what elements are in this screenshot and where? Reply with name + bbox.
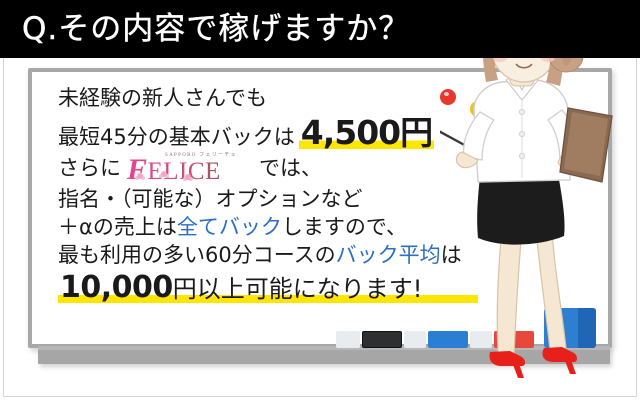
copy-line-7: 10,000円以上可能になります! [58, 273, 478, 303]
flower-icon-1 [137, 173, 143, 179]
felice-logo-wordmark: FELICE [127, 157, 221, 185]
flower-icon-2 [161, 171, 167, 177]
felice-logo-rest: ELICE [148, 158, 221, 185]
copy-line-5-prefix: ＋αの売上は [58, 215, 177, 239]
clipboard [560, 108, 612, 182]
copy-line-2: 最短45分の基本バックは 4,500円 [58, 116, 478, 149]
black-skirt [477, 174, 564, 245]
base-back-amount: 4,500円 [299, 116, 434, 149]
felice-logo-initial: F [127, 153, 148, 186]
promo-copy: 未経験の新人さんでも 最短45分の基本バックは 4,500円 さらに SAPPO… [58, 88, 478, 303]
copy-line-5-highlight: 全てバック [177, 215, 282, 239]
copy-line-6: 最も利用の多い60分コースのバック平均は [58, 245, 478, 266]
copy-line-7-suffix: 円以上可能になります! [173, 275, 423, 303]
header-bar: Q.その内容で稼げますか？ [0, 0, 640, 58]
copy-line-3: さらに SAPPORO フェリーチェ FELICE では、 [58, 153, 478, 183]
copy-line-3-suffix: では、 [259, 158, 322, 179]
flower-icon-3 [185, 174, 191, 180]
red-heel-right [542, 347, 577, 374]
copy-line-2-text: 最短45分の基本バックは [58, 127, 295, 148]
average-back-amount: 10,000 [60, 270, 173, 305]
poster-canvas: Q.その内容で稼げますか？ 未経験の新人さんでも 最短45分の基本バックは 4,… [0, 0, 640, 400]
copy-line-6-highlight: バック平均 [336, 243, 441, 267]
page-title: Q.その内容で稼げますか？ [22, 6, 410, 52]
marker-cap-1 [336, 331, 360, 348]
business-woman-presenter [440, 0, 640, 400]
copy-line-5: ＋αの売上は全てバックしますので、 [58, 217, 478, 238]
felice-logo: SAPPORO フェリーチェ FELICE [127, 155, 253, 185]
copy-line-6-prefix: 最も利用の多い60分コースの [58, 243, 336, 267]
marker-cap-2 [404, 331, 426, 348]
copy-line-1: 未経験の新人さんでも [58, 88, 478, 109]
copy-line-5-suffix: しますので、 [282, 215, 407, 239]
copy-line-3-prefix: さらに [58, 158, 121, 179]
marker-black [362, 331, 402, 348]
copy-line-4: 指名・（可能な）オプションなど [58, 189, 478, 210]
red-heel-left [490, 351, 526, 378]
